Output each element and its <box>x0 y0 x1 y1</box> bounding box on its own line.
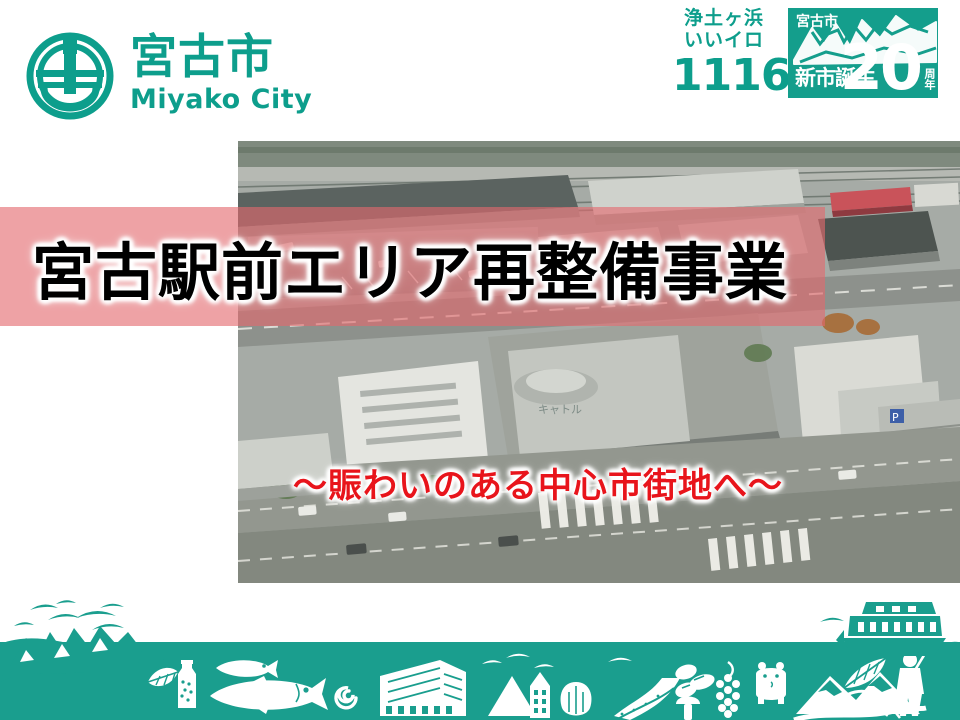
subtitle-text: ～賑わいのある中心市街地へ～ <box>238 458 838 507</box>
bottom-band-graphic <box>0 588 960 720</box>
miyako-city-logo: 宮古市 Miyako City <box>22 22 322 126</box>
jodogahama-line2: いいイロ <box>672 30 776 52</box>
jodogahama-1116-logo: 浄土ヶ浜 いいイロ 1116 <box>672 8 776 104</box>
page-title: 宮古駅前エリア再整備事業 <box>32 222 788 312</box>
city-name-en: Miyako City <box>130 85 312 115</box>
tree-icon <box>561 682 592 716</box>
anniversary-badge: 宮古市 新市誕生 20 周年 <box>788 8 938 98</box>
bear-icon <box>756 662 786 704</box>
jodogahama-line1: 浄土ヶ浜 <box>672 8 776 30</box>
city-name-block: 宮古市 Miyako City <box>130 33 312 114</box>
anniversary-unit: 周年 <box>924 68 935 90</box>
bottom-illustration-band <box>0 588 960 720</box>
svg-text:P: P <box>892 411 899 424</box>
presentation-slide: キャトル P <box>0 0 960 720</box>
city-name-jp: 宮古市 <box>130 33 312 82</box>
anniversary-city-label: 宮古市 <box>796 11 838 31</box>
miyako-city-emblem-icon <box>22 26 118 122</box>
svg-text:キャトル: キャトル <box>538 403 582 416</box>
anniversary-number: 20 <box>840 39 920 98</box>
jodogahama-number: 1116 <box>672 54 776 98</box>
main-title-band: 宮古駅前エリア再整備事業 <box>0 207 825 326</box>
